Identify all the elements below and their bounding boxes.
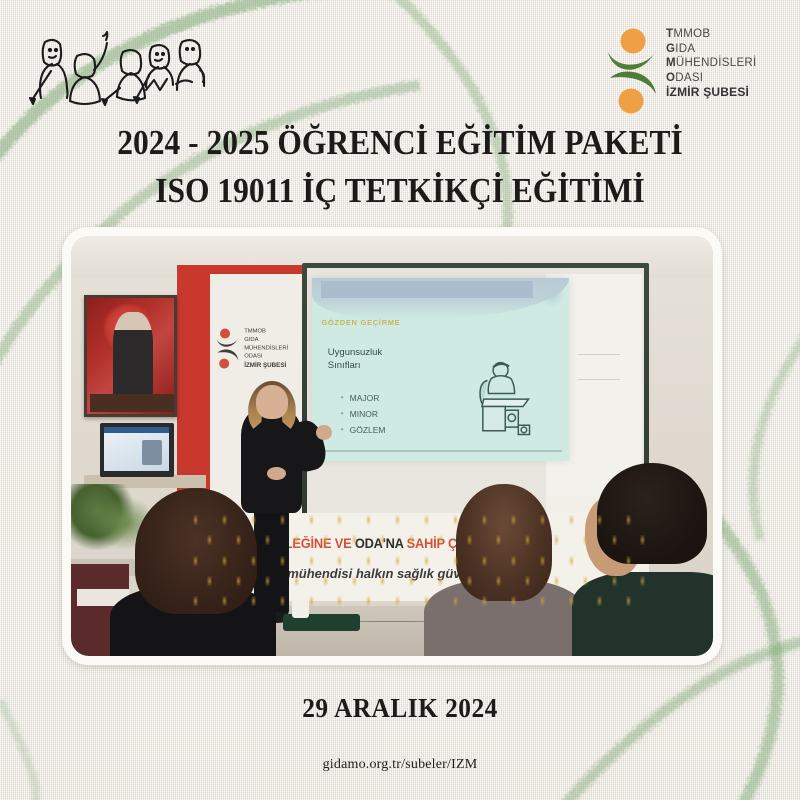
wheat-motif [525,576,530,586]
slide-footer-rule [318,450,562,452]
svg-text:TMMOB: TMMOB [245,329,267,335]
event-date: 29 ARALIK 2024 [24,693,776,724]
wheat-motif [193,556,198,566]
wheat-motif [409,576,414,586]
wheat-motif [626,515,631,525]
wheat-motif [626,596,631,606]
wheat-motif [222,515,227,525]
wheat-motif [612,535,617,545]
wheat-motif [337,596,342,606]
portrait-desk [90,394,173,413]
title-line-2: ISO 19011 İÇ TETKİKÇİ EĞİTİMİ [40,173,760,208]
wheat-motif [467,576,472,586]
wheat-motif [453,556,458,566]
wheat-motif [280,556,285,566]
slide-bullet-list: MAJOR MINOR GÖZLEM [341,391,482,438]
wheat-motif [193,515,198,525]
wheat-motif [395,556,400,566]
slide-header-bar [321,281,533,299]
wheat-motif [309,596,314,606]
auditor-at-desk-illustration [463,358,540,442]
wheat-motif [309,556,314,566]
wheat-motif [482,556,487,566]
wheat-motif [569,556,574,566]
logo-line-tmmob: TMMOB [666,27,786,42]
svg-text:MÜHENDİSLERİ: MÜHENDİSLERİ [245,344,289,351]
wheat-motif [453,515,458,525]
wheat-motif [612,576,617,586]
wheat-motif [511,596,516,606]
presenter-hand [316,425,331,440]
wheat-motif [366,515,371,525]
wheat-motif [597,596,602,606]
wall-tmmob-logo: TMMOB GIDA MÜHENDİSLERİ ODASI İZMİR ŞUBE… [215,320,298,379]
tmmob-gida-logo: TMMOB GIDA MÜHENDİSLERİ ODASI İZMİR ŞUBE… [604,26,784,118]
monitor-screen-image [142,440,163,465]
wheat-motif [640,535,645,545]
photo-frame: TMMOB GIDA MÜHENDİSLERİ ODASI İZMİR ŞUBE… [62,227,722,665]
slide-subtitle-line-2: Sınıfları [328,360,482,373]
wheat-motif [352,535,357,545]
wheat-motif [640,576,645,586]
wheat-motif [482,515,487,525]
wheat-motif [265,535,270,545]
wheat-motif [540,515,545,525]
wheat-motif [395,515,400,525]
wheat-motif [236,576,241,586]
slide-corner-logo [540,282,566,307]
wheat-motif [424,596,429,606]
slide-header-text: GÖZDEN GEÇİRME [321,318,514,327]
wheat-motif [438,576,443,586]
wheat-motif [323,576,328,586]
wheat-motif [569,515,574,525]
svg-text:İZMİR ŞUBESİ: İZMİR ŞUBESİ [245,362,287,369]
wheat-motif [496,535,501,545]
wheat-motif [583,576,588,586]
slide-subtitle: Uygunsuzluk Sınıfları [328,347,482,373]
wheat-motif [222,556,227,566]
title-line-1: 2024 - 2025 ÖĞRENCİ EĞİTİM PAKETİ [40,125,760,160]
wheat-motif [193,596,198,606]
wheat-motif [554,576,559,586]
wheat-motif [453,596,458,606]
wheat-motif [294,576,299,586]
slide-bullet: GÖZLEM [341,423,482,439]
wheat-motif [597,556,602,566]
website-url[interactable]: gidamo.org.tr/subeler/IZM [0,757,800,773]
logo-text-block: TMMOB GIDA MÜHENDİSLERİ ODASI İZMİR ŞUBE… [666,27,786,101]
whiteboard-line [578,379,620,381]
poster-canvas: TMMOB GIDA MÜHENDİSLERİ ODASI İZMİR ŞUBE… [0,0,800,800]
wheat-motif [309,515,314,525]
wheat-motif [236,535,241,545]
wheat-motif [222,596,227,606]
logo-line-odasi: ODASI [666,71,786,86]
wheat-motif [207,576,212,586]
tmmob-figure-mark-icon [604,26,660,118]
wheat-motif [280,515,285,525]
slide-bullet: MINOR [341,407,482,423]
coffee-cup [292,599,309,618]
wheat-motif [366,556,371,566]
wheat-motif [569,596,574,606]
wheat-motif [207,535,212,545]
wheat-motif [323,535,328,545]
hand-drawn-audience-sketch [24,26,214,126]
wheat-motif [496,576,501,586]
logo-line-gida: GIDA [666,42,786,57]
presenter-head [256,385,288,419]
wheat-motif [380,535,385,545]
wheat-motif [511,515,516,525]
wheat-motif [251,515,256,525]
wheat-motif [540,596,545,606]
wheat-motif [380,576,385,586]
page-title: 2024 - 2025 ÖĞRENCİ EĞİTİM PAKETİ ISO 19… [0,125,800,208]
wheat-motif [597,515,602,525]
whiteboard-line [578,354,620,356]
wheat-motif [525,535,530,545]
wheat-motif [280,596,285,606]
wheat-motif [540,556,545,566]
wheat-motif [294,535,299,545]
wheat-motif [409,535,414,545]
red-wall-header [177,265,305,274]
wheat-motif [554,535,559,545]
wheat-motif [583,535,588,545]
wheat-motif [424,556,429,566]
logo-line-muhendisleri: MÜHENDİSLERİ [666,56,786,71]
svg-text:ODASI: ODASI [245,354,264,360]
wheat-motif [337,515,342,525]
svg-text:GIDA: GIDA [245,337,259,343]
wheat-motif [251,596,256,606]
event-photo: TMMOB GIDA MÜHENDİSLERİ ODASI İZMİR ŞUBE… [71,236,713,656]
logo-line-branch: İZMİR ŞUBESİ [666,85,786,100]
slide-subtitle-line-1: Uygunsuzluk [328,347,482,360]
wheat-motif [337,556,342,566]
wheat-motif [424,515,429,525]
audience-hair [597,463,706,564]
slide-bullet: MAJOR [341,391,482,407]
wheat-motif [626,556,631,566]
wheat-motif [482,596,487,606]
wheat-motif [366,596,371,606]
monitor-screen-titlebar [104,427,168,434]
wheat-motif [251,556,256,566]
wheat-motif [511,556,516,566]
wheat-motif [395,596,400,606]
wheat-motif [467,535,472,545]
wheat-motif [265,576,270,586]
wheat-motif [352,576,357,586]
wheat-motif [438,535,443,545]
